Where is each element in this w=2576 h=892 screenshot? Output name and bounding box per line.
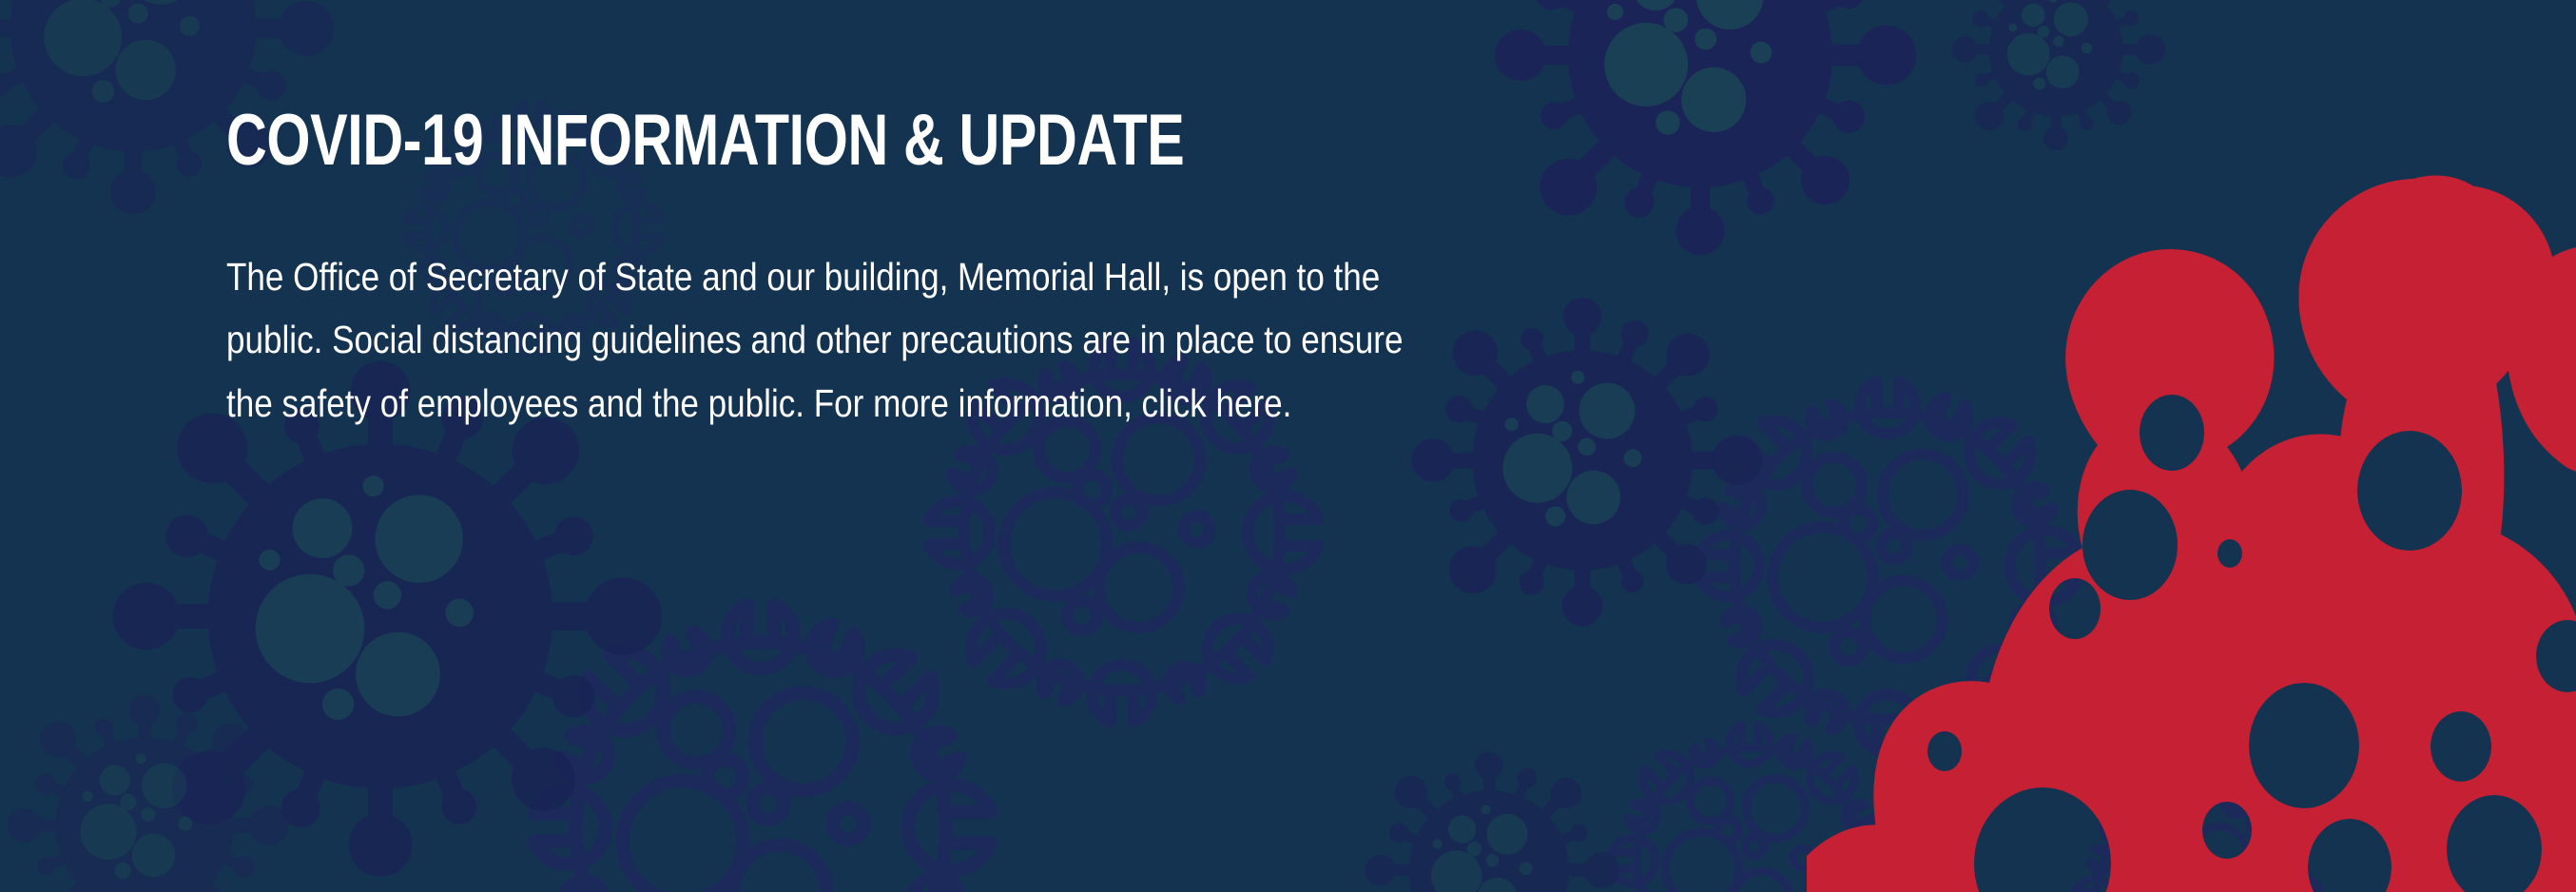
- body-line-2: public. Social distancing guidelines and…: [226, 308, 1754, 371]
- red-virus-fill-mass: [2001, 185, 2576, 892]
- banner-body-text: The Office of Secretary of State and our…: [226, 245, 1754, 435]
- virus-top-right: [1952, 0, 2166, 151]
- body-line-3: the safety of employees and the public. …: [226, 372, 1754, 435]
- body-line-1: The Office of Secretary of State and our…: [226, 245, 1754, 308]
- page-title: COVID-19 INFORMATION & UPDATE: [226, 105, 1428, 177]
- virus-bottom-left: [8, 694, 289, 892]
- covid-info-banner: COVID-19 INFORMATION & UPDATE The Office…: [0, 0, 2576, 892]
- banner-content: COVID-19 INFORMATION & UPDATE The Office…: [226, 105, 1767, 435]
- virus-bottom-mid: [1365, 751, 1619, 892]
- virus-mid-left: [113, 361, 662, 877]
- red-virus-body: [1807, 176, 2576, 892]
